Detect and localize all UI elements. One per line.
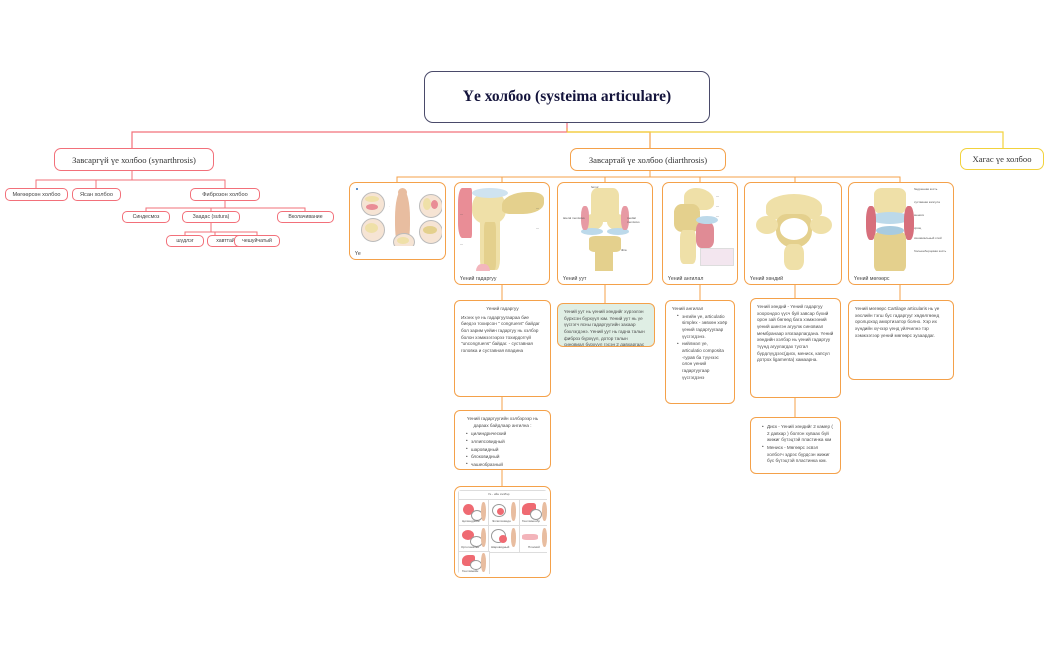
note-joint-capsule-body: Үений уут нь үений хөндийг хүрээлэн бүрх…: [564, 309, 645, 347]
list-item: чашеобразный: [467, 462, 544, 469]
shape-label: Плоский: [528, 545, 540, 549]
card-joint-capsule[interactable]: femur lateral meniscus medial meniscus t…: [557, 182, 653, 285]
note-joint-shapes-title: Үений гадаргуугийн хэлбэрээр нь дараах б…: [461, 416, 544, 429]
note-disc-meniscus-list: Диск - Үений хөндийг 2 камер ( 2 давхар …: [757, 424, 834, 465]
list-item: эллипсовидный: [467, 439, 544, 446]
shape-label: Ортогональн: [461, 545, 479, 549]
note-joint-classification-title: Үений ангилал: [672, 306, 703, 311]
node-vkolachivanie[interactable]: Вколачивание: [277, 211, 334, 223]
shape-label: Эллипсовидн: [492, 519, 511, 523]
shoulder-joint-illustration: — — — —: [458, 186, 546, 271]
node-vkolachivanie-label: Вколачивание: [288, 214, 322, 220]
card-joint-cartilage[interactable]: бедренная кость суставная капсула мениск…: [848, 182, 954, 285]
node-syndesmosis[interactable]: Синдесмоз: [122, 211, 170, 223]
shape-label: Гинглимийн: [462, 569, 478, 573]
branch-hemiarthrosis-label: Хагас үе холбоо: [973, 154, 1032, 164]
cartilage-label-hyaline-ru: хрящ: [914, 226, 921, 230]
note-disc-meniscus[interactable]: Диск - Үений хөндийг 2 камер ( 2 давхар …: [750, 417, 841, 474]
card-joint-classification[interactable]: — — — Үений ангилал: [662, 182, 738, 285]
knee-label-medial-meniscus: medial meniscus: [627, 216, 649, 224]
node-bone-joint[interactable]: Ясан холбоо: [72, 188, 121, 201]
note-joint-cartilage-body: Үений мөгөөрс Cartilage articularis нь ү…: [855, 306, 939, 338]
shape-label: Цилиндрийн: [462, 519, 479, 523]
knee-label-lateral-meniscus: lateral meniscus: [563, 216, 585, 220]
card-joint-cavity-caption: Үений хөндий: [750, 276, 783, 282]
card-joint-capsule-caption: Үений уут: [563, 276, 586, 282]
branch-synarthrosis[interactable]: Завсаргүй үе холбоо (synarthrosis): [54, 148, 214, 171]
knee-joint-illustration: femur lateral meniscus medial meniscus t…: [561, 186, 649, 271]
note-joint-cartilage[interactable]: Үений мөгөөрс Cartilage articularis нь ү…: [848, 300, 954, 380]
list-item: цилиндрический: [467, 431, 544, 438]
knee-label-femur: femur: [591, 186, 599, 189]
card-joint-shapes-figure[interactable]: Үе - ийн хэлбэр Цилиндрийн Эллипсовидн Г…: [454, 486, 551, 578]
branch-diarthrosis-label: Завсартай үе холбоо (diarthrosis): [589, 155, 707, 165]
root-label: Үе холбоо (systeima articulare): [463, 87, 671, 106]
joint-classification-illustration: — — —: [666, 186, 734, 271]
list-item: Диск - Үений хөндийг 2 камер ( 2 давхар …: [763, 424, 834, 444]
node-cartilage-joint[interactable]: Мөгөөрсөн холбоо: [5, 188, 68, 201]
node-sutura-serrata-label: шүдлэг: [176, 238, 193, 244]
card-joint-surface[interactable]: — — — — Үений гадаргуу: [454, 182, 550, 285]
cartilage-label-synovial-ru: синовиальный слой: [914, 236, 942, 240]
note-joint-classification[interactable]: Үений ангилал энгийн үе, articulatio sim…: [665, 300, 735, 404]
note-joint-surface[interactable]: Үений гадаргуу Ихэнх үе нь гадаргуугаара…: [454, 300, 551, 397]
list-item: энгийн үе, articulatio simplex - зөвхөн …: [678, 314, 728, 341]
note-joint-shapes-list: цилиндрический эллипсовидный шаровидный …: [461, 431, 544, 470]
node-sutura-serrata[interactable]: шүдлэг: [166, 235, 204, 247]
joint-overview-illustration: ·: [353, 186, 442, 246]
node-sutura-label: Заадас (sutura): [193, 214, 230, 220]
shape-label: Гинглимообр: [522, 519, 540, 523]
card-joint-classification-caption: Үений ангилал: [668, 276, 703, 282]
node-fibrous-joint-label: Фиброзон холбоо: [202, 192, 247, 198]
cartilage-label-femur-ru: бедренная кость: [914, 187, 937, 191]
branch-hemiarthrosis[interactable]: Хагас үе холбоо: [960, 148, 1044, 170]
note-joint-shapes[interactable]: Үений гадаргуугийн хэлбэрээр нь дараах б…: [454, 410, 551, 470]
joint-shapes-figure-title: Үе - ийн хэлбэр: [488, 492, 509, 496]
note-joint-capsule[interactable]: Үений уут нь үений хөндийг хүрээлэн бүрх…: [557, 303, 655, 347]
note-joint-cavity[interactable]: Үений хөндий - Үений гадаргуу хоорондоо …: [750, 298, 841, 398]
card-joint-overview[interactable]: · Үе: [349, 182, 446, 260]
node-sutura-squamosa-label: чешуйчатый: [242, 238, 272, 244]
cartilage-label-capsule-ru: суставная капсула: [914, 200, 940, 204]
list-item: блоковидный: [467, 454, 544, 461]
node-sutura-squamosa[interactable]: чешуйчатый: [234, 235, 280, 247]
list-item: шаровидный: [467, 447, 544, 454]
node-fibrous-joint[interactable]: Фиброзон холбоо: [190, 188, 260, 201]
shape-label: Шаровидный: [491, 545, 509, 549]
vertebra-illustration: [748, 186, 838, 271]
card-joint-overview-caption: Үе: [355, 251, 361, 257]
cartilage-label-meniscus-ru: мениск: [914, 213, 924, 217]
note-joint-surface-title: Үений гадаргуу: [461, 306, 544, 313]
knee-cartilage-illustration: бедренная кость суставная капсула мениск…: [852, 186, 950, 271]
list-item: нийлмэл үе, articulatio composita -гурав…: [678, 341, 728, 381]
node-cartilage-joint-label: Мөгөөрсөн холбоо: [12, 192, 60, 198]
branch-synarthrosis-label: Завсаргүй үе холбоо (synarthrosis): [72, 155, 196, 165]
root-node[interactable]: Үе холбоо (systeima articulare): [424, 71, 710, 123]
node-sutura[interactable]: Заадас (sutura): [182, 211, 240, 223]
node-syndesmosis-label: Синдесмоз: [133, 214, 160, 220]
branch-diarthrosis[interactable]: Завсартай үе холбоо (diarthrosis): [570, 148, 726, 171]
note-joint-cavity-body: Үений хөндий - Үений гадаргуу хоорондоо …: [757, 304, 833, 362]
card-joint-cavity[interactable]: Үений хөндий: [744, 182, 842, 285]
joint-shapes-illustration: Үе - ийн хэлбэр Цилиндрийн Эллипсовидн Г…: [458, 490, 547, 574]
node-sutura-plana-label: хавттай: [216, 238, 235, 244]
list-item: Мениск - Мөгөөрс эсвэл холбогч эдрэс бүр…: [763, 445, 834, 465]
card-joint-surface-caption: Үений гадаргуу: [460, 276, 496, 282]
knee-label-tibia: tibia: [621, 248, 627, 252]
mindmap-canvas: Үе холбоо (systeima articulare) Завсаргү…: [0, 0, 1050, 650]
note-joint-classification-list: энгийн үе, articulatio simplex - зөвхөн …: [672, 314, 728, 382]
node-bone-joint-label: Ясан холбоо: [80, 192, 113, 198]
note-joint-surface-body: Ихэнх үе нь гадаргуугаараа бие биедээ то…: [461, 315, 540, 353]
cartilage-label-tibia-ru: большеберцовая кость: [914, 249, 946, 253]
card-joint-cartilage-caption: Үений мөгөөрс: [854, 276, 889, 282]
